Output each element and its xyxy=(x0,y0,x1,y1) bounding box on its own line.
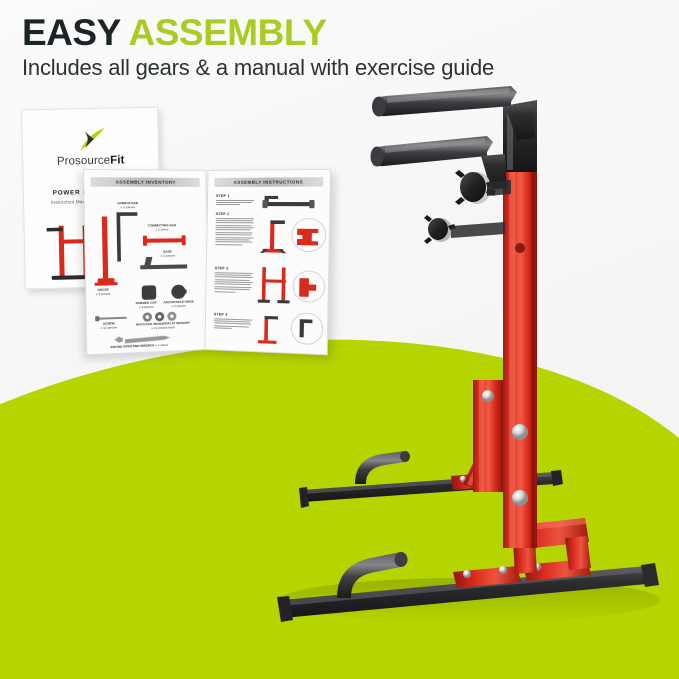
push-up-handle-rear xyxy=(355,451,410,484)
page-subtitle: Includes all gears & a manual with exerc… xyxy=(22,55,494,81)
inventory-banner: ASSEMBLY INVENTORY xyxy=(91,177,200,187)
rubber-end-cap xyxy=(551,470,563,486)
red-vertical-post-rear xyxy=(473,380,503,492)
part-label-handle-bar: HANDLE BARx 2 pieces xyxy=(117,202,138,210)
part-label-base: BASEx 2 pieces xyxy=(161,250,175,258)
adjustment-hole xyxy=(512,424,528,440)
part-label-connecting-bar: CONNECTING BARx 1 piece xyxy=(148,224,177,232)
part-label-adjustable-knob: ADJUSTABLE KNOBx 2 pieces xyxy=(163,300,193,309)
adjustment-hole xyxy=(512,490,528,506)
knob-stalk-upper xyxy=(487,180,511,196)
part-label-rubber-cap: RUBBER CAPx 4 pieces xyxy=(136,302,157,311)
manual-page-inventory: ASSEMBLY INVENTORY xyxy=(83,169,210,355)
headline-word-easy: EASY xyxy=(22,12,120,53)
prosourcefit-swoosh-icon xyxy=(23,126,159,155)
knob-stalk-lower xyxy=(451,222,505,238)
part-label-screw: SCREWx 12 pieces xyxy=(101,322,118,331)
product-photo-power-dip-station xyxy=(255,80,679,640)
headline-word-assembly: ASSEMBLY xyxy=(129,12,327,53)
inventory-body: HANDLE BARx 2 pieces CONNECTING BARx 1 p… xyxy=(84,190,208,356)
red-vertical-post-front xyxy=(503,172,537,548)
marketing-image-canvas: EASY ASSEMBLY Includes all gears & a man… xyxy=(0,0,679,679)
brand-name-light: Prosource xyxy=(57,155,111,168)
brand-logo-text: ProsourceFit xyxy=(23,154,158,169)
page-title: EASY ASSEMBLY xyxy=(22,14,327,51)
brand-name-bold: Fit xyxy=(110,154,125,166)
brand-logo: ProsourceFit xyxy=(23,126,159,169)
part-label-house: HOUSEx 2 pieces xyxy=(96,288,111,296)
